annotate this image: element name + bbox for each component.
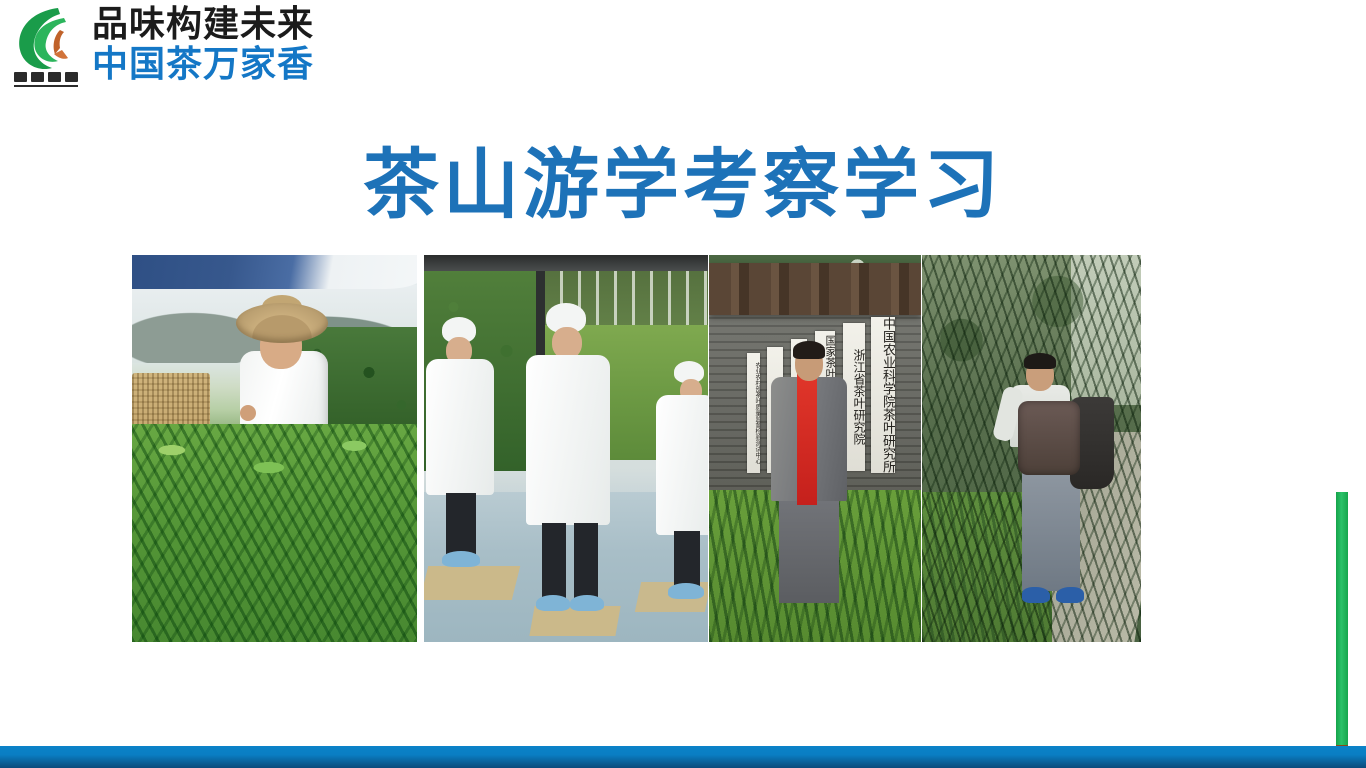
photo2-lab-coat [526, 355, 610, 525]
photo2-shoe-cover [570, 595, 604, 611]
photo3-signboard: 农业农村部茶叶质量监督检验测试中心 [747, 353, 760, 473]
company-logo-icon [8, 2, 86, 90]
photo2-shoe-cover [442, 551, 480, 567]
brand-text-block: 品味构建未来 中国茶万家香 [92, 2, 314, 82]
gallery-photo-institute-gate: 农业农村部茶叶质量监督检验测试中心 中国茶叶学会 国家茶产业工程技术研究中心 国… [709, 255, 921, 642]
gallery-photo-lab-coats [424, 255, 708, 642]
photo4-backpack [1018, 401, 1080, 475]
slide-canvas: 品味构建未来 中国茶万家香 茶山游学考察学习 [0, 0, 1366, 768]
photo2-lab-coat [656, 395, 708, 535]
photo3-red-scarf [797, 373, 817, 505]
photo3-wooden-beams [709, 263, 921, 315]
photo3-person-trousers [779, 493, 839, 603]
brand-tagline-top: 品味构建未来 [92, 6, 314, 42]
photo2-shoe-cover [536, 595, 570, 611]
photo2-ceiling-beam [424, 255, 708, 271]
photo2-legs [446, 493, 476, 555]
gallery-photo-tea-picking [132, 255, 417, 642]
photo2-legs [574, 523, 598, 601]
accent-bar-right [1336, 492, 1348, 745]
brand-tagline-bottom: 中国茶万家香 [92, 46, 314, 82]
gallery-photo-tea-trees [922, 255, 1141, 642]
photo4-person-trousers [1022, 473, 1080, 591]
page-title: 茶山游学考察学习 [0, 146, 1366, 226]
photo2-floor-mat [424, 566, 520, 600]
photo1-straw-hat-brim [236, 303, 328, 343]
photo2-legs [674, 531, 700, 589]
photo1-blue-tarp [132, 255, 417, 289]
photo3-signboard: 中国农业科学院茶叶研究所 [871, 317, 895, 473]
photo3-person-hair [793, 341, 825, 359]
photo2-shoe-cover [668, 583, 704, 599]
photo4-shoe [1056, 587, 1084, 603]
photo2-lab-coat [426, 359, 494, 495]
photo1-person-hand [240, 405, 256, 421]
footer-bar [0, 746, 1366, 768]
photo4-person-hair [1024, 353, 1056, 369]
photo2-legs [542, 523, 566, 601]
photo-gallery: 农业农村部茶叶质量监督检验测试中心 中国茶叶学会 国家茶产业工程技术研究中心 国… [132, 255, 1141, 642]
photo4-shoe [1022, 587, 1050, 603]
photo1-tea-field [132, 424, 417, 642]
brand-header: 品味构建未来 中国茶万家香 [8, 2, 308, 94]
